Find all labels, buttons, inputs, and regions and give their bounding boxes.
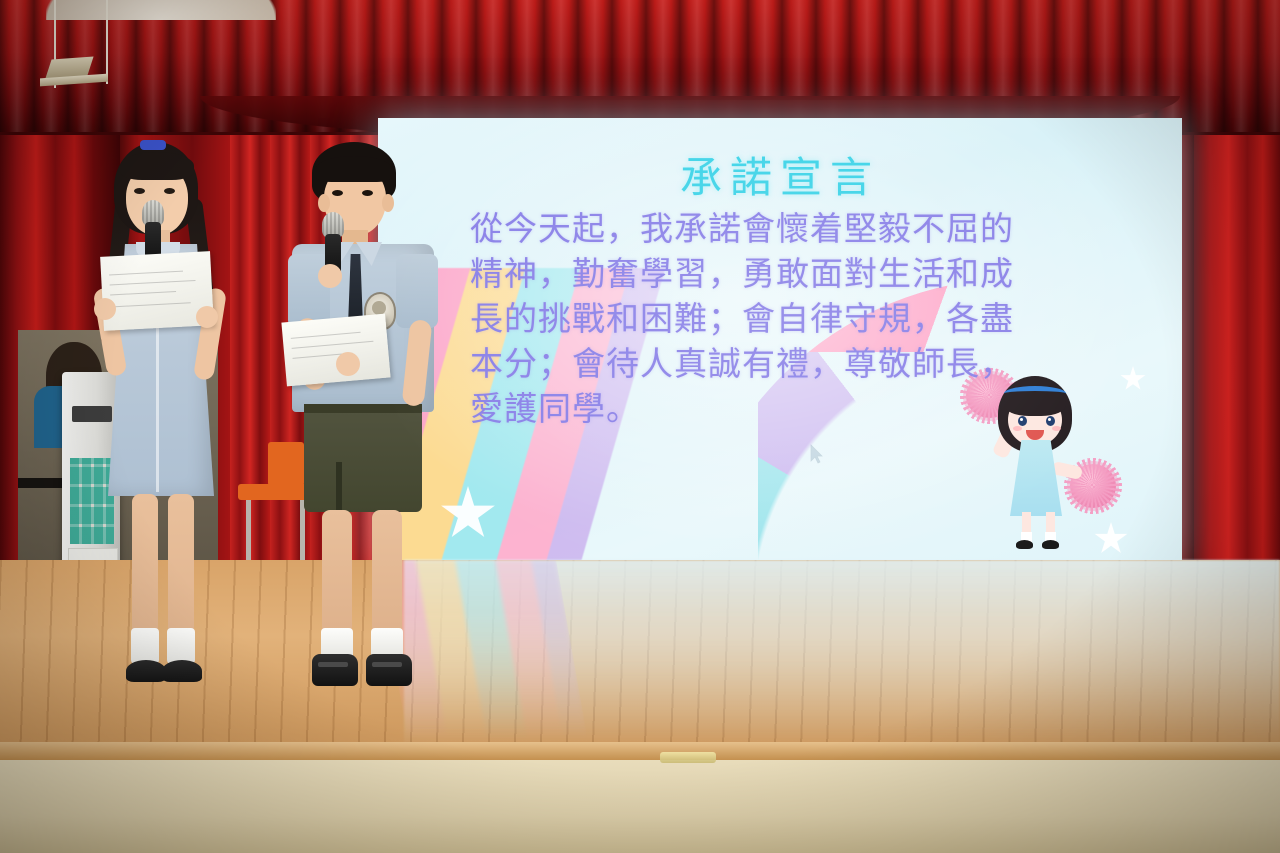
paper-text-line xyxy=(110,280,196,285)
hanging-rope-right xyxy=(106,0,108,84)
slide-title: 承諾宣言 xyxy=(378,144,1182,205)
sleeve-right xyxy=(396,254,438,328)
boy-student-speaker xyxy=(278,142,448,702)
eye-left xyxy=(332,190,343,196)
shorts-waistband xyxy=(304,404,422,413)
character-dress xyxy=(1010,440,1062,516)
ear-left xyxy=(318,194,330,212)
stage-photograph: 承諾宣言 從今天起，我承諾會懷着堅毅不屈的 精神，勤奮學習，勇敢面對生活和成 長… xyxy=(0,0,1280,853)
slide-body-text: 從今天起，我承諾會懷着堅毅不屈的 精神，勤奮學習，勇敢面對生活和成 長的挑戰和困… xyxy=(470,208,1080,432)
shoe-left xyxy=(126,660,166,682)
shoe-left xyxy=(312,654,358,686)
fringe xyxy=(120,152,194,180)
girl-student-speaker xyxy=(84,138,244,700)
projection-screen: 承諾宣言 從今天起，我承諾會懷着堅毅不屈的 精神，勤奮學習，勇敢面對生活和成 長… xyxy=(378,118,1182,570)
hand-holding-paper-right xyxy=(196,306,218,328)
slide-body-line: 愛護同學。 xyxy=(470,388,1080,433)
hand-on-microphone xyxy=(318,264,342,288)
stage-edge xyxy=(0,742,1280,760)
shoe-right xyxy=(162,660,202,682)
slide-body-line: 長的挑戰和困難；會自律守規，各盡 xyxy=(470,298,1080,343)
slide-body-line: 從今天起，我承諾會懷着堅毅不屈的 xyxy=(470,208,1080,253)
script-paper xyxy=(281,314,390,387)
paper-text-line xyxy=(291,332,361,339)
hair-clip xyxy=(140,140,166,150)
shoe-velcro-strap xyxy=(318,662,348,667)
ear-right xyxy=(382,194,394,212)
eye-left xyxy=(134,188,145,194)
character-shoe-right xyxy=(1042,540,1059,549)
ceiling-light xyxy=(46,0,276,20)
paper-text-line xyxy=(111,302,191,307)
small-object-on-floor xyxy=(660,752,716,763)
paper-text-line xyxy=(110,291,176,295)
shoe-right xyxy=(366,654,412,686)
hand-holding-paper xyxy=(336,352,360,376)
fringe xyxy=(316,156,392,182)
shoe-velcro-strap xyxy=(372,662,402,667)
hand-holding-paper-left xyxy=(94,298,116,320)
eye-right xyxy=(362,190,373,196)
slide-body-line: 精神，勤奮學習，勇敢面對生活和成 xyxy=(470,253,1080,298)
eye-right xyxy=(164,188,175,194)
sock-right xyxy=(167,628,195,664)
slide-body-line: 本分；會待人真誠有禮，尊敬師長， xyxy=(470,343,1080,388)
paper-text-line xyxy=(292,341,374,349)
character-shoe-left xyxy=(1016,540,1033,549)
mouse-pointer-icon xyxy=(810,444,824,464)
school-shorts xyxy=(304,404,422,512)
hall-floor-foreground xyxy=(0,760,1280,853)
shorts-inseam xyxy=(336,462,342,514)
sock-left xyxy=(131,628,159,664)
paper-text-line xyxy=(109,271,183,276)
